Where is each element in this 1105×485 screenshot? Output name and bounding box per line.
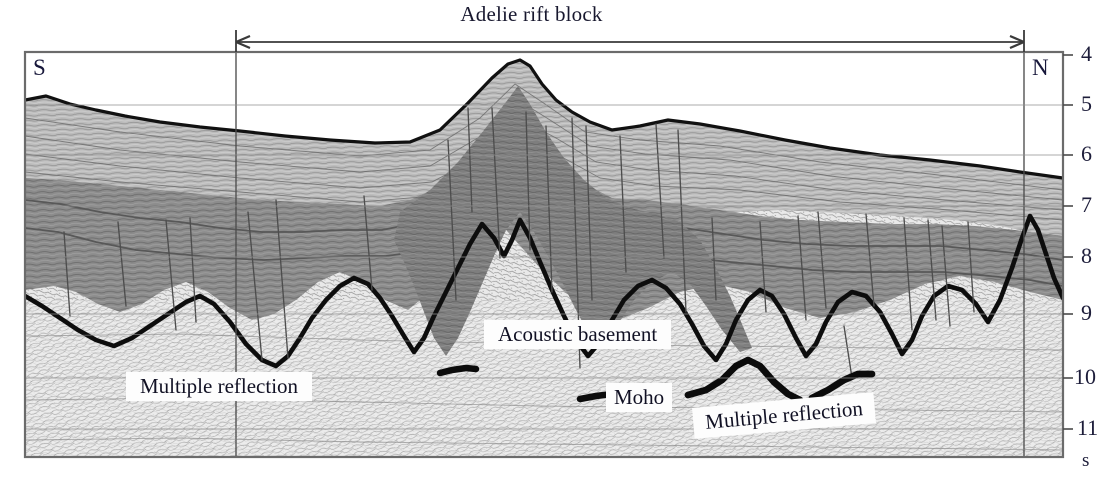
annotation-moho: Moho	[606, 383, 672, 412]
axis-tick-label-7: 7	[1081, 192, 1092, 218]
axis-tick-label-4: 4	[1081, 41, 1092, 67]
orientation-label-south: S	[33, 55, 46, 81]
orientation-label-north: N	[1032, 55, 1049, 81]
axis-tick-label-6: 6	[1081, 141, 1092, 167]
rift-extent-arrow	[236, 30, 1024, 52]
annotation-acoustic-basement: Acoustic basement	[484, 320, 671, 349]
axis-tick-label-9: 9	[1081, 300, 1092, 326]
axis-tick-label-8: 8	[1081, 243, 1092, 269]
seismic-section-canvas	[0, 0, 1105, 485]
time-axis-ticks	[1063, 55, 1073, 429]
axis-tick-label-11: 11	[1077, 415, 1098, 441]
axis-tick-label-10: 10	[1074, 364, 1096, 390]
axis-unit-label: s	[1082, 450, 1089, 472]
annotation-multiple-reflection-left: Multiple reflection	[126, 372, 312, 401]
axis-tick-label-5: 5	[1081, 91, 1092, 117]
seismic-figure: Adelie rift block	[0, 0, 1105, 480]
